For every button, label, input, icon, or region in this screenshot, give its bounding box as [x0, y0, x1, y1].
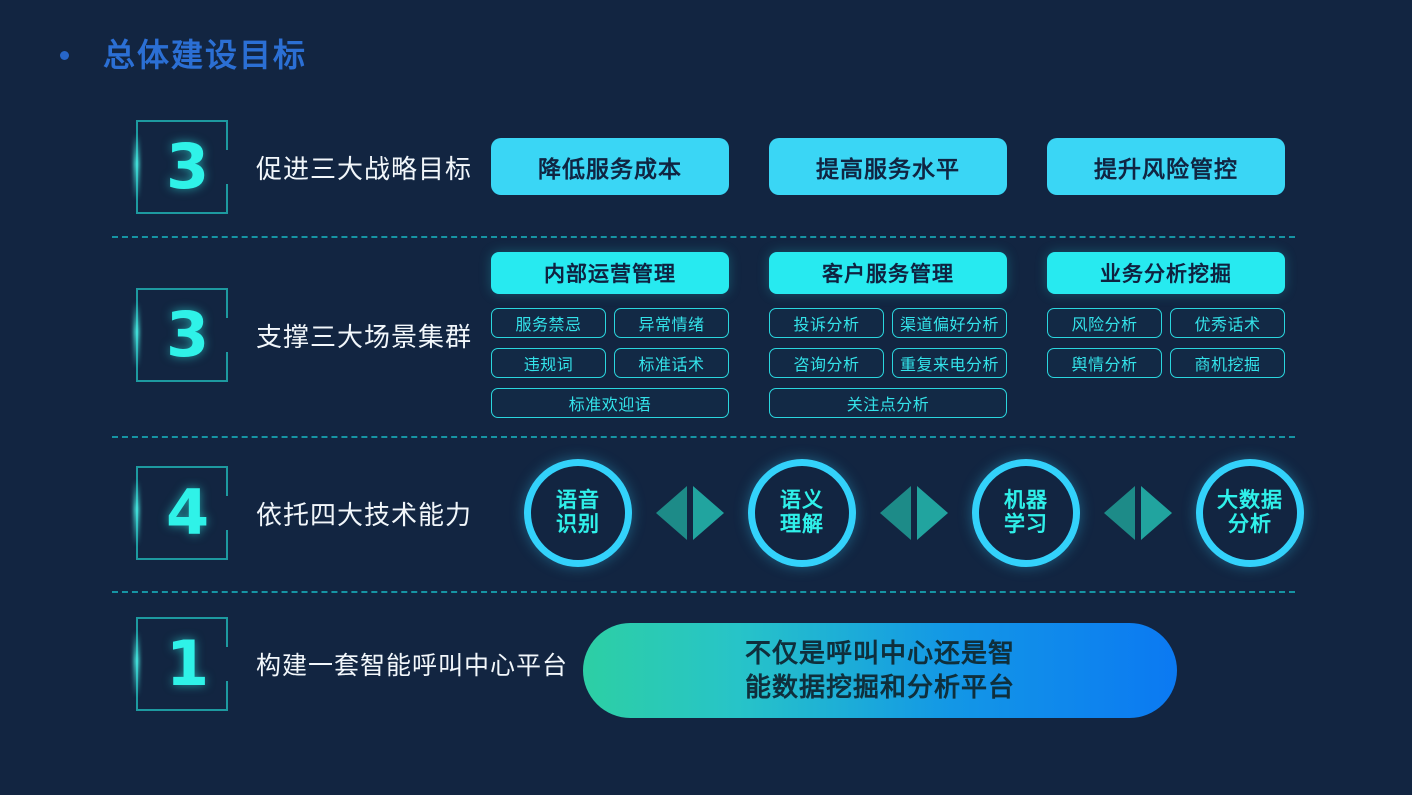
- number-frame-icon: 3: [136, 288, 228, 382]
- tech-circle-line2: 识别: [556, 513, 600, 536]
- row-label-text: 构建一套智能呼叫中心平台: [256, 646, 568, 682]
- row-label-text: 促进三大战略目标: [256, 149, 472, 186]
- scene-tag-wide[interactable]: 标准欢迎语: [491, 388, 729, 418]
- frame-glow-icon: [134, 302, 139, 368]
- scene-tag[interactable]: 服务禁忌: [491, 308, 606, 338]
- tech-circle-line1: 语音: [556, 489, 600, 512]
- tech-circle-line2: 理解: [780, 513, 824, 536]
- number-frame-icon: 1: [136, 617, 228, 711]
- dot-bullet-icon: [60, 51, 69, 60]
- scene-group-customer-service: 客户服务管理 投诉分析 渠道偏好分析 咨询分析 重复来电分析 关注点分析: [769, 252, 1007, 418]
- scene-tag[interactable]: 异常情绪: [614, 308, 729, 338]
- tech-circle-line2: 分析: [1228, 513, 1272, 536]
- scene-tag[interactable]: 渠道偏好分析: [892, 308, 1007, 338]
- row-label-platform: 1 构建一套智能呼叫中心平台: [136, 617, 568, 711]
- divider-3: [112, 591, 1295, 593]
- frame-glow-icon: [134, 134, 139, 200]
- row-label-strategy: 3 促进三大战略目标: [136, 120, 472, 214]
- number-frame-icon: 4: [136, 466, 228, 560]
- frame-glow-icon: [134, 631, 139, 697]
- row-number: 4: [166, 482, 209, 544]
- strategy-button-2[interactable]: 提高服务水平: [769, 138, 1007, 195]
- scene-group-header[interactable]: 客户服务管理: [769, 252, 1007, 294]
- scene-group-business-analysis: 业务分析挖掘 风险分析 优秀话术 舆情分析 商机挖掘: [1047, 252, 1285, 418]
- scene-group-header[interactable]: 内部运营管理: [491, 252, 729, 294]
- scene-tag[interactable]: 商机挖掘: [1170, 348, 1285, 378]
- scene-tag[interactable]: 投诉分析: [769, 308, 884, 338]
- tech-circle-machine-learning[interactable]: 机器 学习: [972, 459, 1080, 567]
- platform-pill-line1: 不仅是呼叫中心还是智: [745, 638, 1015, 668]
- divider-1: [112, 236, 1295, 238]
- strategy-button-3[interactable]: 提升风险管控: [1047, 138, 1285, 195]
- platform-summary-pill[interactable]: 不仅是呼叫中心还是智 能数据挖掘和分析平台: [583, 623, 1177, 718]
- platform-pill-line2: 能数据挖掘和分析平台: [745, 672, 1015, 702]
- scene-tag[interactable]: 优秀话术: [1170, 308, 1285, 338]
- scene-tag[interactable]: 标准话术: [614, 348, 729, 378]
- scene-tag[interactable]: 咨询分析: [769, 348, 884, 378]
- row-number: 3: [166, 304, 209, 366]
- strategy-button-group: 降低服务成本 提高服务水平 提升风险管控: [491, 138, 1285, 195]
- scene-tag-grid: 风险分析 优秀话术 舆情分析 商机挖掘: [1047, 308, 1285, 378]
- scene-tag-wide[interactable]: 关注点分析: [769, 388, 1007, 418]
- tech-circle-speech-recognition[interactable]: 语音 识别: [524, 459, 632, 567]
- double-arrow-diamond-icon: [1104, 486, 1172, 540]
- row-number: 3: [166, 136, 209, 198]
- number-frame-icon: 3: [136, 120, 228, 214]
- scene-group-header[interactable]: 业务分析挖掘: [1047, 252, 1285, 294]
- page-title: 总体建设目标: [60, 30, 307, 80]
- scene-tag[interactable]: 违规词: [491, 348, 606, 378]
- double-arrow-diamond-icon: [656, 486, 724, 540]
- scene-group-container: 内部运营管理 服务禁忌 异常情绪 违规词 标准话术 标准欢迎语 客户服务管理 投…: [491, 252, 1285, 418]
- slide-canvas: 总体建设目标 3 促进三大战略目标 降低服务成本 提高服务水平 提升风险管控: [0, 0, 1412, 795]
- scene-tag-grid: 投诉分析 渠道偏好分析 咨询分析 重复来电分析 关注点分析: [769, 308, 1007, 418]
- scene-tag[interactable]: 舆情分析: [1047, 348, 1162, 378]
- tech-capability-flow: 语音 识别 语义 理解 机器 学习 大数据: [524, 459, 1304, 567]
- tech-circle-line2: 学习: [1004, 513, 1048, 536]
- divider-2: [112, 436, 1295, 438]
- row-label-text: 依托四大技术能力: [256, 495, 472, 532]
- tech-circle-line1: 大数据: [1217, 489, 1283, 512]
- tech-circle-semantic-understanding[interactable]: 语义 理解: [748, 459, 856, 567]
- scene-group-internal-operations: 内部运营管理 服务禁忌 异常情绪 违规词 标准话术 标准欢迎语: [491, 252, 729, 418]
- scene-tag-grid: 服务禁忌 异常情绪 违规词 标准话术 标准欢迎语: [491, 308, 729, 418]
- double-arrow-diamond-icon: [880, 486, 948, 540]
- scene-tag[interactable]: 重复来电分析: [892, 348, 1007, 378]
- row-label-scenes: 3 支撑三大场景集群: [136, 288, 472, 382]
- scene-tag[interactable]: 风险分析: [1047, 308, 1162, 338]
- tech-circle-line1: 机器: [1004, 489, 1048, 512]
- row-number: 1: [166, 633, 209, 695]
- strategy-button-1[interactable]: 降低服务成本: [491, 138, 729, 195]
- tech-circle-line1: 语义: [780, 489, 824, 512]
- row-label-text: 支撑三大场景集群: [256, 317, 472, 354]
- row-label-tech: 4 依托四大技术能力: [136, 466, 472, 560]
- page-title-text: 总体建设目标: [103, 39, 307, 71]
- frame-glow-icon: [134, 480, 139, 546]
- tech-circle-big-data-analysis[interactable]: 大数据 分析: [1196, 459, 1304, 567]
